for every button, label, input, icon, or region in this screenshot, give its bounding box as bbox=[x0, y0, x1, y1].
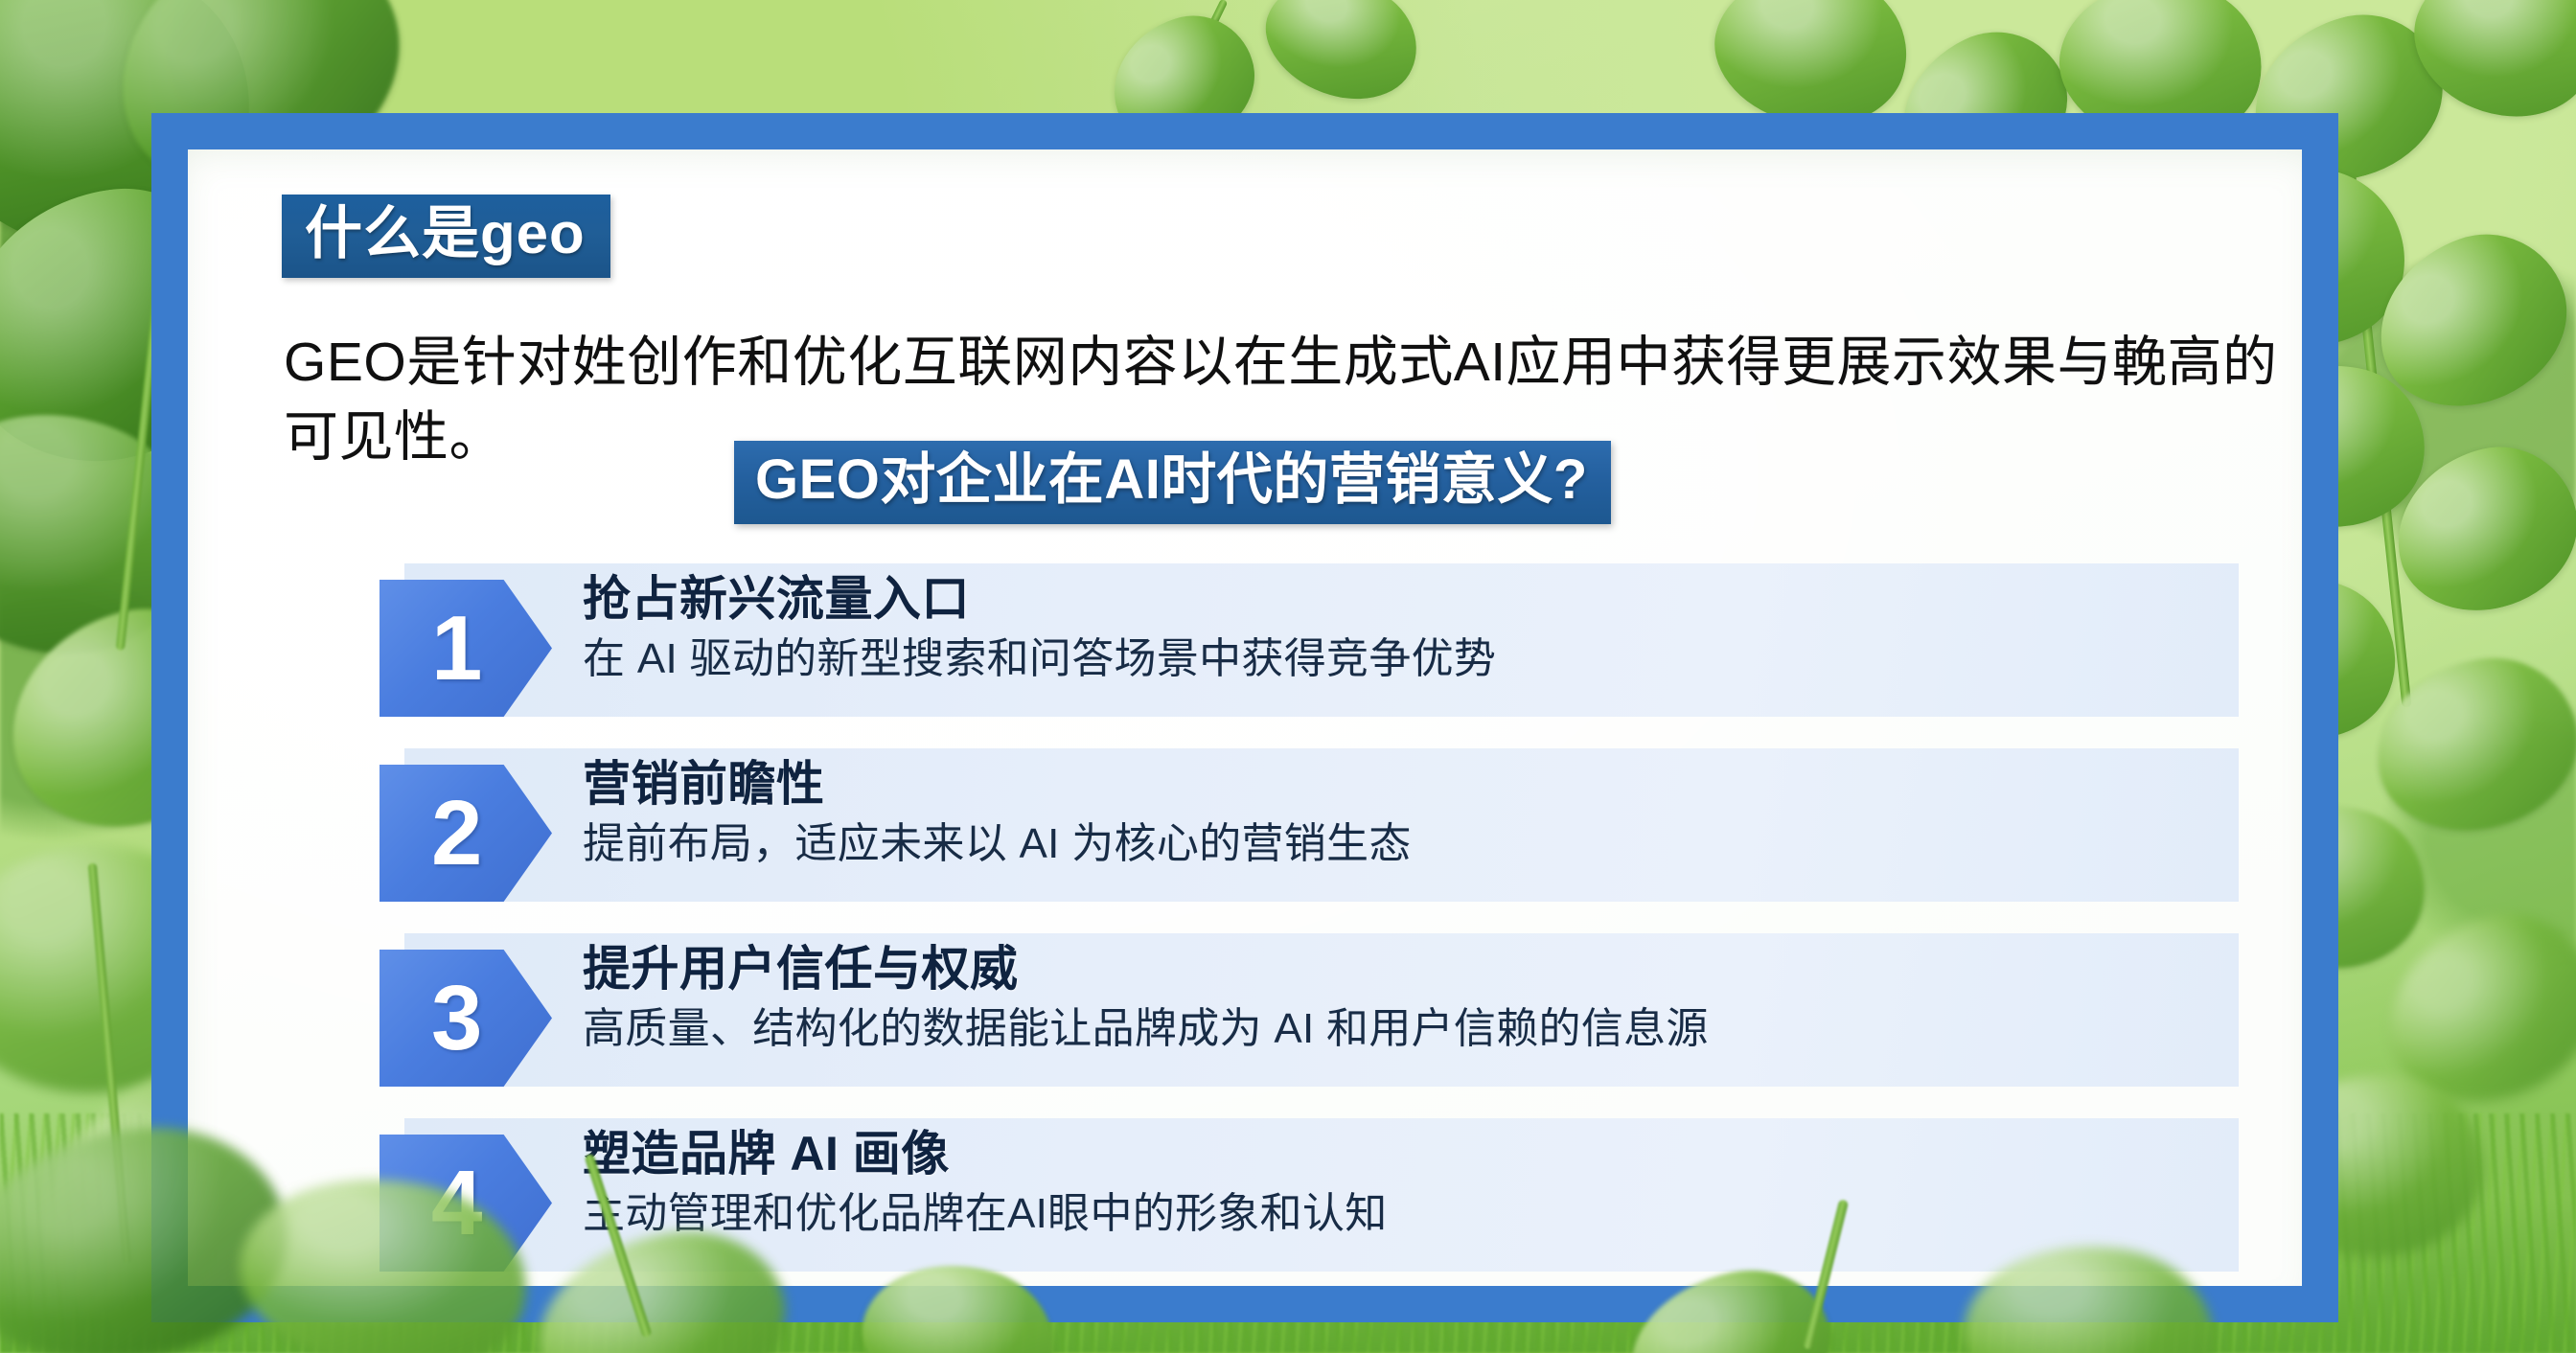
slide-canvas: 什么是geo GEO是针对姓创作和优化互联网内容以在生成式AI应用中获得更展示效… bbox=[0, 0, 2576, 1353]
list-item-number: 3 bbox=[431, 973, 482, 1065]
list-item: 3 提升用户信任与权威 高质量、结构化的数据能让品牌成为 AI 和用户信赖的信息… bbox=[379, 933, 2239, 1098]
list-item-description: 提前布局，适应未来以 AI 为核心的营销生态 bbox=[583, 819, 2219, 870]
list-item-description: 主动管理和优化品牌在AI眼中的形象和认知 bbox=[583, 1189, 2219, 1240]
list-item-text: 提升用户信任与权威 高质量、结构化的数据能让品牌成为 AI 和用户信赖的信息源 bbox=[583, 941, 2219, 1055]
page-title: 什么是geo bbox=[305, 203, 586, 265]
list-item-number: 2 bbox=[431, 788, 482, 880]
section-banner: GEO对企业在AI时代的营销意义? bbox=[734, 441, 1611, 524]
list-item-description: 在 AI 驱动的新型搜索和问答场景中获得竞争优势 bbox=[583, 634, 2219, 685]
list-item-title: 提升用户信任与权威 bbox=[583, 941, 2219, 998]
section-banner-text: GEO对企业在AI时代的营销意义? bbox=[755, 450, 1588, 511]
list-item-text: 营销前瞻性 提前布局，适应未来以 AI 为核心的营销生态 bbox=[583, 756, 2219, 870]
list-item-title: 塑造品牌 AI 画像 bbox=[583, 1126, 2219, 1182]
list-item: 2 营销前瞻性 提前布局，适应未来以 AI 为核心的营销生态 bbox=[379, 748, 2239, 913]
title-badge: 什么是geo bbox=[282, 195, 610, 278]
numbered-list: 1 抢占新兴流量入口 在 AI 驱动的新型搜索和问答场景中获得竞争优势 2 营销… bbox=[379, 563, 2239, 1303]
list-item-text: 抢占新兴流量入口 在 AI 驱动的新型搜索和问答场景中获得竞争优势 bbox=[583, 571, 2219, 685]
list-item: 1 抢占新兴流量入口 在 AI 驱动的新型搜索和问答场景中获得竞争优势 bbox=[379, 563, 2239, 728]
list-item-description: 高质量、结构化的数据能让品牌成为 AI 和用户信赖的信息源 bbox=[583, 1004, 2219, 1055]
list-item-title: 营销前瞻性 bbox=[583, 756, 2219, 813]
list-item-text: 塑造品牌 AI 画像 主动管理和优化品牌在AI眼中的形象和认知 bbox=[583, 1126, 2219, 1240]
list-item-title: 抢占新兴流量入口 bbox=[583, 571, 2219, 628]
list-item-number: 1 bbox=[431, 603, 482, 695]
